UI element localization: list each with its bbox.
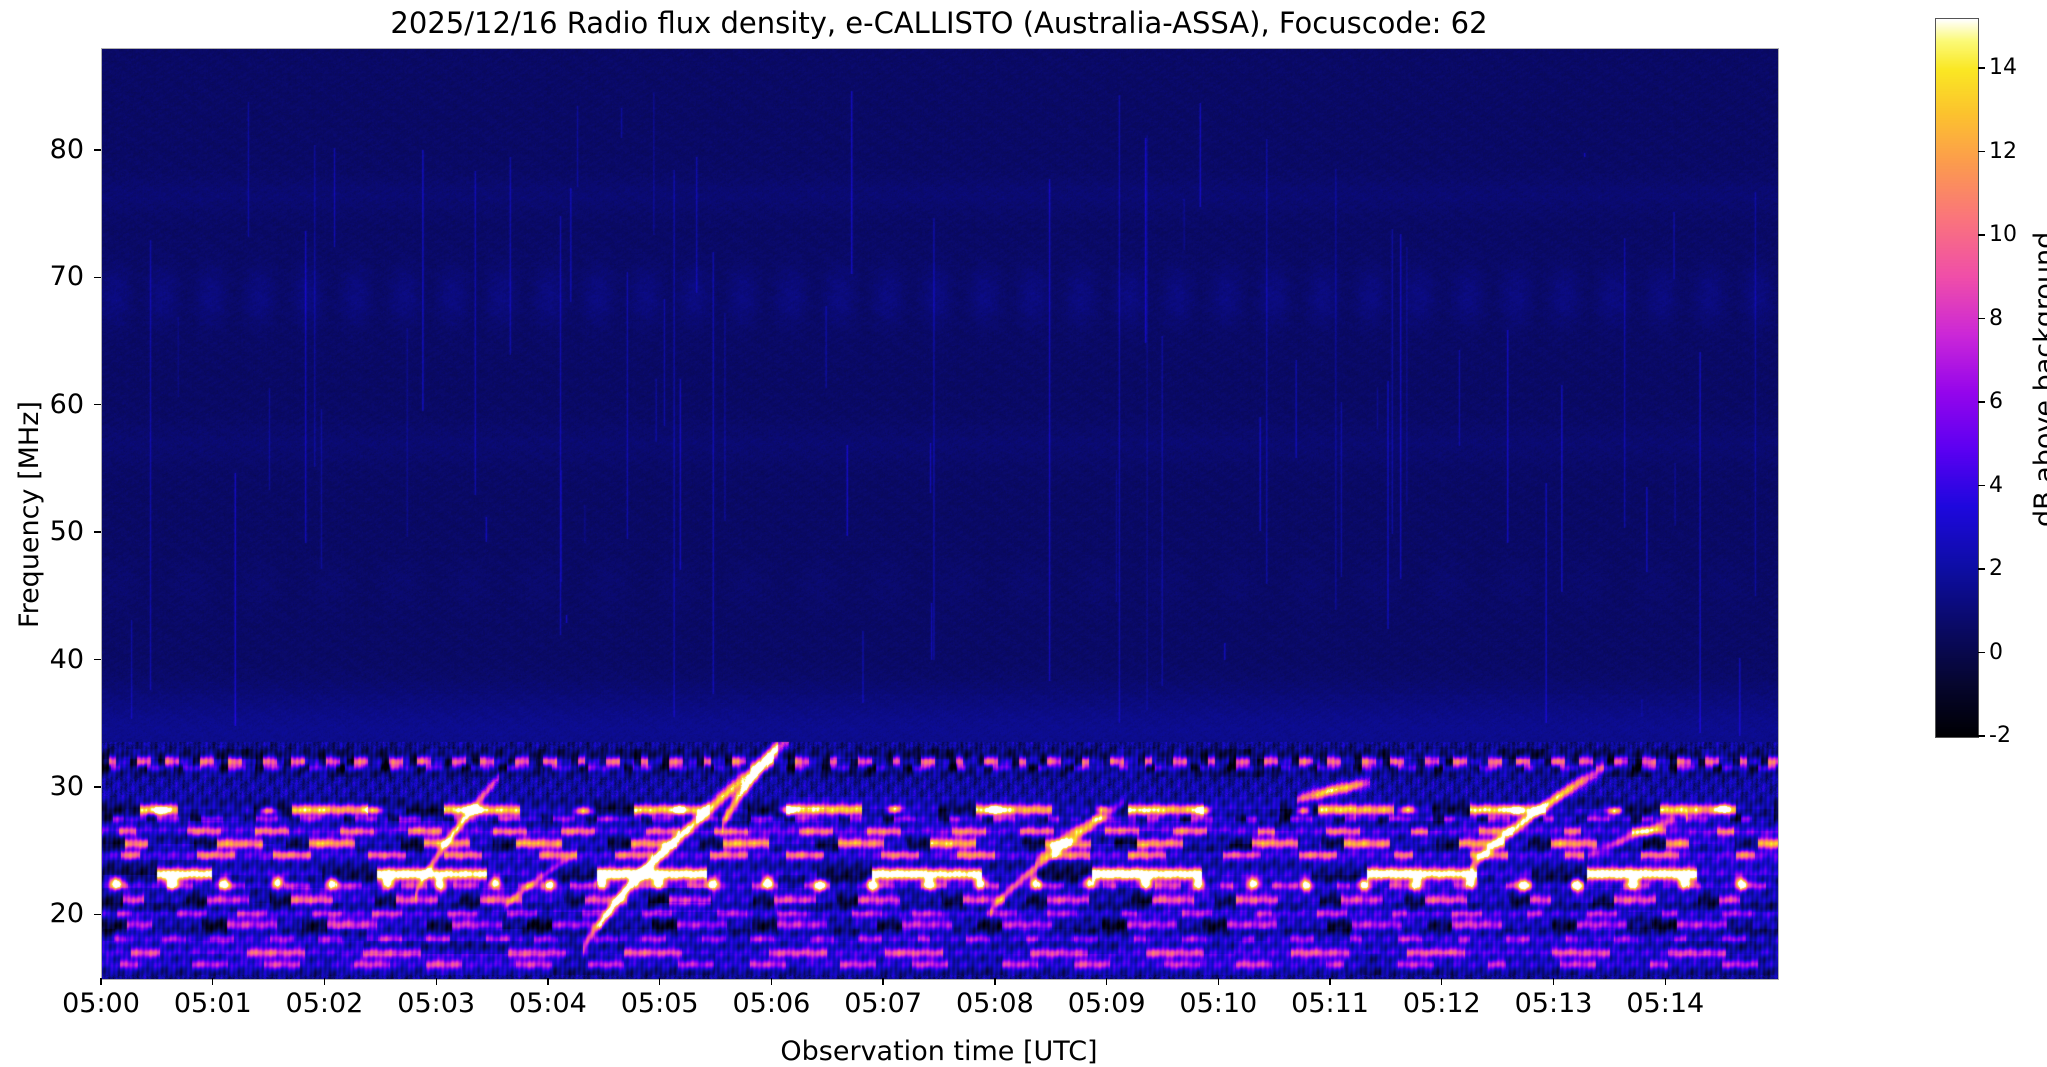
y-tick-label: 80: [18, 136, 84, 163]
y-tick-mark: [94, 531, 101, 532]
colorbar-tick-mark: [1978, 652, 1985, 653]
colorbar-tick-mark: [1978, 151, 1985, 152]
colorbar-tick-label: 10: [1989, 224, 2045, 246]
colorbar-tick-mark: [1978, 67, 1985, 68]
colorbar-tick-label: 4: [1989, 475, 2045, 497]
plot-area[interactable]: [101, 48, 1779, 980]
x-tick-mark: [1665, 978, 1666, 985]
x-tick-mark: [324, 978, 325, 985]
y-tick-label: 50: [18, 518, 84, 545]
y-tick-mark: [94, 914, 101, 915]
x-tick-mark: [1218, 978, 1219, 985]
colorbar-tick-mark: [1978, 234, 1985, 235]
x-tick-mark: [882, 978, 883, 985]
y-tick-label: 30: [18, 773, 84, 800]
x-tick-mark: [771, 978, 772, 985]
colorbar-tick-label: 6: [1989, 391, 2045, 413]
y-tick-mark: [94, 149, 101, 150]
page-title: 2025/12/16 Radio flux density, e-CALLIST…: [101, 6, 1777, 40]
x-axis-label: Observation time [UTC]: [101, 1036, 1777, 1067]
y-tick-mark: [94, 659, 101, 660]
x-tick-mark: [659, 978, 660, 985]
y-tick-mark: [94, 404, 101, 405]
colorbar-canvas: [1936, 19, 1978, 737]
colorbar-tick-label: 12: [1989, 141, 2045, 163]
colorbar-tick-mark: [1978, 318, 1985, 319]
x-tick-mark: [1329, 978, 1330, 985]
colorbar-tick-mark: [1978, 735, 1985, 736]
colorbar-tick-label: -2: [1989, 725, 2045, 747]
colorbar-tick-label: 8: [1989, 308, 2045, 330]
colorbar-tick-label: 2: [1989, 558, 2045, 580]
y-tick-mark: [94, 786, 101, 787]
y-axis-label: Frequency [MHz]: [14, 401, 45, 628]
colorbar[interactable]: [1935, 18, 1979, 738]
x-tick-mark: [994, 978, 995, 985]
colorbar-tick-label: 0: [1989, 642, 2045, 664]
spectrogram-figure: 2025/12/16 Radio flux density, e-CALLIST…: [0, 0, 2047, 1067]
y-tick-label: 40: [18, 646, 84, 673]
x-tick-mark: [436, 978, 437, 985]
x-tick-label: 05:14: [1595, 990, 1735, 1017]
colorbar-tick-mark: [1978, 568, 1985, 569]
spectrogram-canvas[interactable]: [102, 49, 1778, 979]
x-tick-mark: [1106, 978, 1107, 985]
x-tick-mark: [1441, 978, 1442, 985]
colorbar-tick-mark: [1978, 485, 1985, 486]
x-tick-mark: [1553, 978, 1554, 985]
colorbar-tick-label: 14: [1989, 57, 2045, 79]
x-tick-mark: [212, 978, 213, 985]
y-tick-label: 20: [18, 900, 84, 927]
colorbar-tick-mark: [1978, 401, 1985, 402]
y-tick-label: 60: [18, 391, 84, 418]
y-tick-label: 70: [18, 263, 84, 290]
x-tick-mark: [547, 978, 548, 985]
x-tick-mark: [100, 978, 101, 985]
y-tick-mark: [94, 277, 101, 278]
